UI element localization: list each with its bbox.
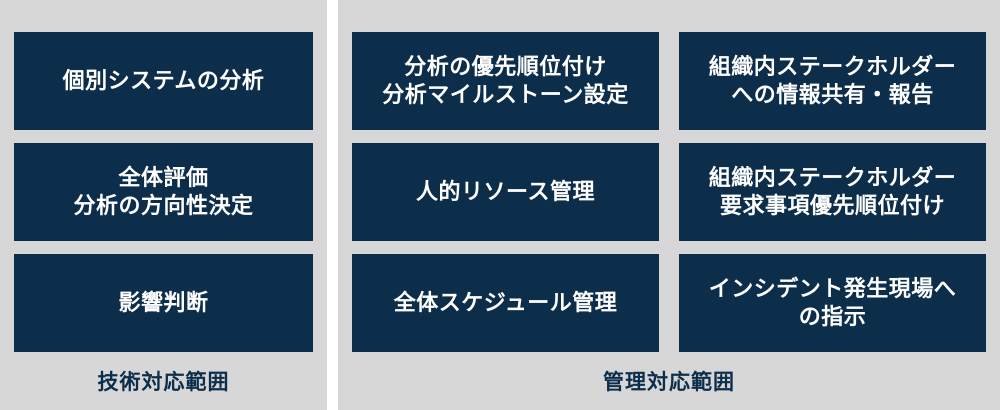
box-management-2-1[interactable]: 組織内ステークホルダー への情報共有・報告 xyxy=(679,32,986,130)
management-column-2: 組織内ステークホルダー への情報共有・報告 組織内ステークホルダー 要求事項優先… xyxy=(679,32,986,352)
panel-technical-footer-label: 技術対応範囲 xyxy=(14,352,313,410)
box-management-2-3[interactable]: インシデント発生現場へ の指示 xyxy=(679,254,986,352)
panel-management-columns: 分析の優先順位付け 分析マイルストーン設定 人的リソース管理 全体スケジュール管… xyxy=(352,32,986,352)
panel-divider-gap xyxy=(327,0,338,410)
box-management-1-2[interactable]: 人的リソース管理 xyxy=(352,143,659,241)
panel-technical-scope: 個別システムの分析 全体評価 分析の方向性決定 影響判断 技術対応範囲 xyxy=(0,0,327,410)
panel-management-footer-label: 管理対応範囲 xyxy=(352,352,986,410)
technical-column-1: 個別システムの分析 全体評価 分析の方向性決定 影響判断 xyxy=(14,32,313,352)
management-column-1: 分析の優先順位付け 分析マイルストーン設定 人的リソース管理 全体スケジュール管… xyxy=(352,32,659,352)
box-management-2-2[interactable]: 組織内ステークホルダー 要求事項優先順位付け xyxy=(679,143,986,241)
box-management-1-3[interactable]: 全体スケジュール管理 xyxy=(352,254,659,352)
box-technical-1[interactable]: 個別システムの分析 xyxy=(14,32,313,130)
panel-management-scope: 分析の優先順位付け 分析マイルストーン設定 人的リソース管理 全体スケジュール管… xyxy=(338,0,1000,410)
panel-technical-columns: 個別システムの分析 全体評価 分析の方向性決定 影響判断 xyxy=(14,32,313,352)
box-technical-3[interactable]: 影響判断 xyxy=(14,254,313,352)
box-technical-2[interactable]: 全体評価 分析の方向性決定 xyxy=(14,143,313,241)
scope-diagram: 個別システムの分析 全体評価 分析の方向性決定 影響判断 技術対応範囲 分析の優… xyxy=(0,0,1000,410)
box-management-1-1[interactable]: 分析の優先順位付け 分析マイルストーン設定 xyxy=(352,32,659,130)
